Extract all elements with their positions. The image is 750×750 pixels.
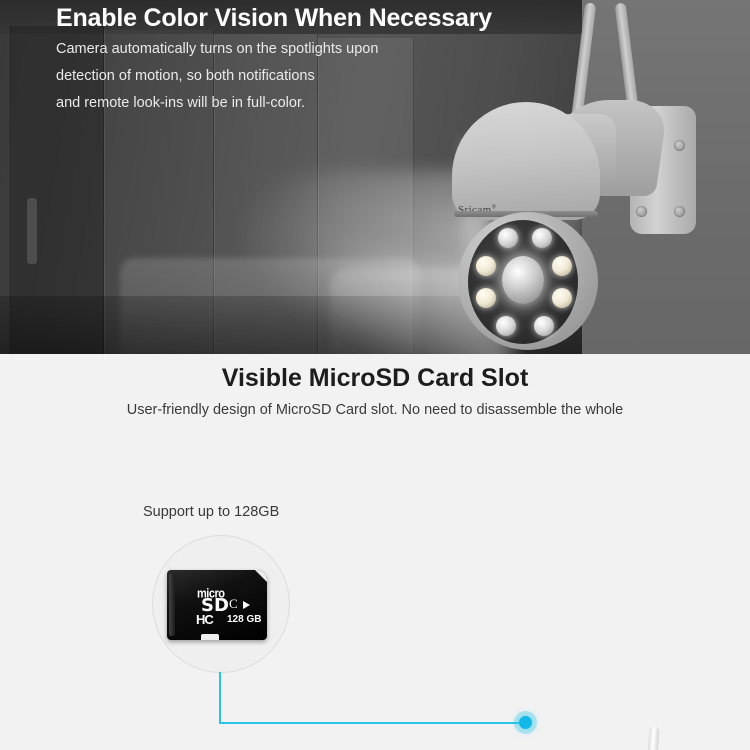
product-feature-page: Sricam® Enable Color Vision When Necessa…	[0, 0, 750, 750]
callout-endpoint-dot	[519, 716, 532, 729]
section2-title: Visible MicroSD Card Slot	[0, 364, 750, 393]
camera-lens	[502, 256, 544, 304]
camera-front-view: Sricam®	[440, 6, 710, 354]
led-icon	[534, 316, 554, 336]
body-line: detection of motion, so both notificatio…	[56, 63, 378, 90]
led-icon	[552, 288, 572, 308]
card-capacity-label: 128 GB	[227, 614, 261, 625]
screw	[636, 206, 647, 217]
led-icon	[498, 228, 518, 248]
led-icon	[476, 288, 496, 308]
callout-line-horizontal	[219, 722, 525, 724]
led-icon	[532, 228, 552, 248]
brand-registered-icon: ®	[492, 204, 497, 210]
card-hc-label: HC	[196, 612, 213, 627]
callout-line-vertical	[219, 672, 221, 724]
led-icon	[476, 256, 496, 276]
body-line: Camera automatically turns on the spotli…	[56, 36, 378, 63]
body-line: and remote look-ins will be in full-colo…	[56, 90, 378, 117]
section1-body: Camera automatically turns on the spotli…	[56, 36, 378, 117]
door-handle	[27, 198, 37, 264]
card-notch	[201, 634, 219, 640]
camera-rear-view: •• 128	[455, 726, 735, 750]
microsd-card: micro SD C HC 128 GB	[167, 570, 267, 640]
card-edge-stripe	[169, 574, 175, 636]
antenna-icon	[639, 726, 660, 750]
card-bevel	[255, 570, 267, 582]
section2-subtitle: User-friendly design of MicroSD Card slo…	[0, 402, 750, 418]
led-icon	[496, 316, 516, 336]
card-class-label: C	[229, 596, 238, 612]
section1-title: Enable Color Vision When Necessary	[56, 4, 492, 33]
section-microsd-slot: Visible MicroSD Card Slot User-friendly …	[0, 354, 750, 750]
support-capacity-label: Support up to 128GB	[143, 504, 279, 520]
section-color-vision: Sricam® Enable Color Vision When Necessa…	[0, 0, 750, 354]
led-icon	[552, 256, 572, 276]
screw	[674, 206, 685, 217]
screw	[674, 140, 685, 151]
card-speed-marker-icon	[243, 601, 250, 609]
